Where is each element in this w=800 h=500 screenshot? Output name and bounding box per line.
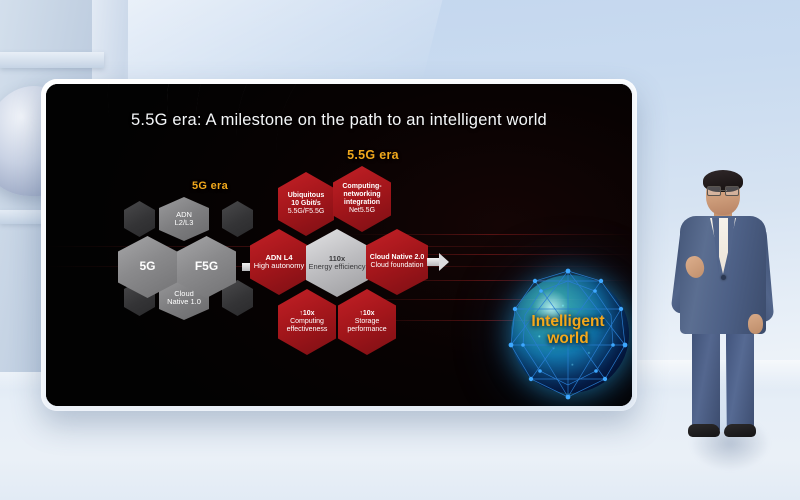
era-55g-label: 5.5G era (298, 148, 448, 162)
era-5g-label: 5G era (150, 180, 270, 192)
hex-line-3: effectiveness (287, 326, 328, 334)
presenter-shoe-right (724, 424, 756, 437)
hex-line-2: networking (342, 191, 381, 199)
globe-caption-line-1: Intelligent (493, 313, 632, 330)
presentation-slide: 5.5G era: A milestone on the path to an … (46, 84, 632, 406)
hex-line-3: performance (347, 326, 386, 334)
hex-line-2: Computing (287, 318, 328, 326)
glasses-icon (707, 186, 739, 194)
presenter-leg-right (726, 324, 754, 432)
hex-line-1: ↑10x (287, 310, 328, 318)
hex-line-3: integration (342, 199, 381, 207)
presenter (672, 172, 774, 440)
presenter-shoe-left (688, 424, 720, 437)
hex-line-3: 5.5G/F5.5G (288, 208, 325, 216)
wall-shelf-upper (0, 52, 104, 68)
hex-line-4: Net5.5G (342, 207, 381, 215)
globe-caption-line-2: world (493, 330, 632, 347)
intelligent-world-globe: Intelligent world (493, 267, 632, 406)
hex-line-1: Cloud Native 2.0 (370, 254, 424, 262)
hex-line-2: Energy efficiency (309, 263, 366, 271)
screenshot-stage: 5.5G era: A milestone on the path to an … (0, 0, 800, 500)
hex-line-1: Ubiquitous (288, 192, 325, 200)
hex-line-2: L2/L3 (175, 219, 194, 227)
hex-line-1: ↑10x (347, 310, 386, 318)
hex-line-1: F5G (193, 260, 220, 273)
hex-line-1: 5G (137, 260, 157, 273)
hex-line-2: Storage (347, 318, 386, 326)
presenter-lapel-right (728, 218, 747, 276)
globe-caption: Intelligent world (493, 313, 632, 348)
hex-line-2: Native 1.0 (167, 298, 201, 306)
hex-line-1: Computing- (342, 183, 381, 191)
hex-line-2: 10 Gbit/s (288, 200, 325, 208)
display-screen-bezel: 5.5G era: A milestone on the path to an … (41, 79, 637, 411)
presenter-leg-left (692, 324, 720, 432)
hex-line-2: Cloud foundation (370, 262, 424, 270)
slide-title: 5.5G era: A milestone on the path to an … (46, 111, 632, 130)
hex-line-2: High autonomy (254, 262, 304, 270)
presenter-hand-right (748, 314, 763, 334)
presenter-jacket-button (721, 275, 726, 280)
presenter-leg-gap (720, 344, 727, 432)
